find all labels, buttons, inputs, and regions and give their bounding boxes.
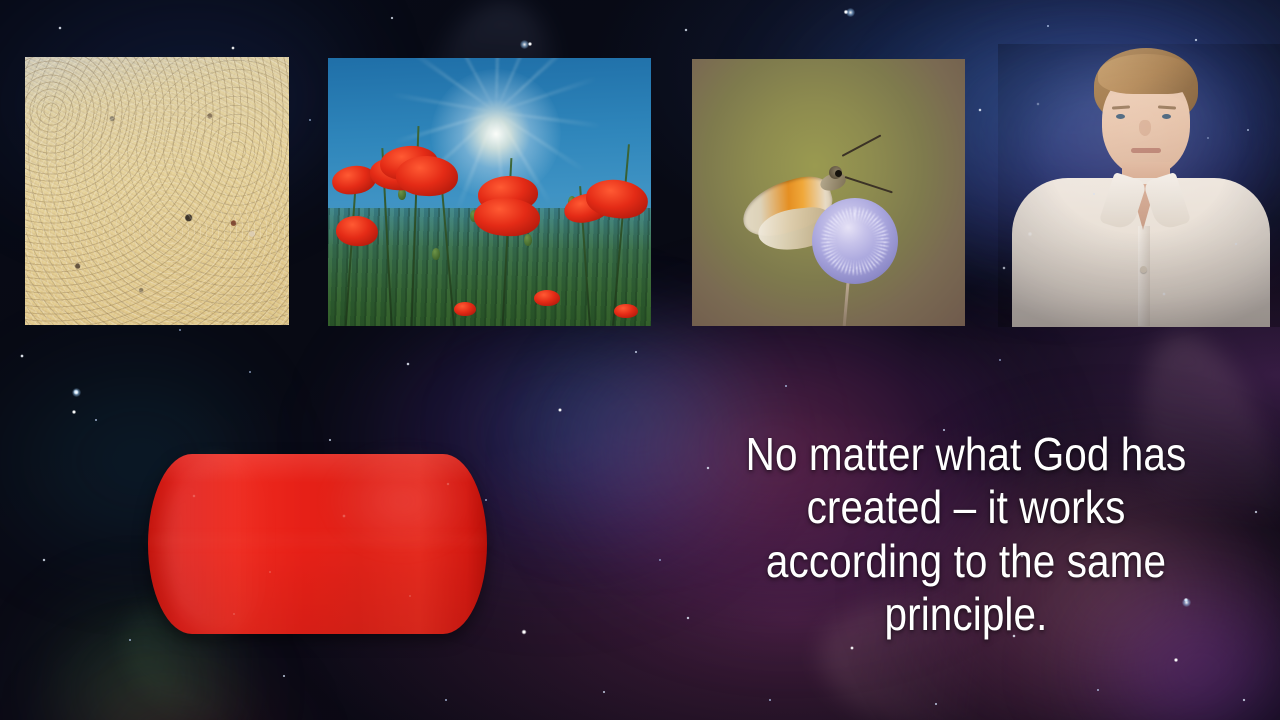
presenter-eye: [1162, 114, 1171, 119]
poppy-flower: [454, 302, 476, 316]
cylinder-light-band: [148, 537, 487, 547]
red-cylinder-shape[interactable]: [148, 454, 487, 634]
sand-grain-texture: [25, 57, 289, 325]
presenter-shirt-placket: [1138, 226, 1150, 326]
sand-macro-photo: [25, 57, 289, 325]
bright-star: [72, 388, 81, 397]
butterfly-antenna: [845, 177, 893, 194]
butterfly-photo: [692, 59, 965, 326]
poppy-bud: [432, 248, 440, 260]
presenter-photo: [998, 44, 1280, 327]
poppy-flower: [614, 304, 638, 318]
presentation-slide: No matter what God has created – it work…: [0, 0, 1280, 720]
quote-text: No matter what God has created – it work…: [721, 428, 1210, 641]
bright-star: [846, 8, 855, 17]
bright-star: [520, 40, 529, 49]
presenter-eye: [1116, 114, 1125, 119]
poppy-bud: [524, 234, 532, 246]
poppy-field-photo: [328, 58, 651, 326]
presenter-shirt-button: [1140, 266, 1147, 273]
butterfly-antenna: [842, 135, 882, 157]
presenter-mouth: [1131, 148, 1161, 153]
flower-petal-spikes: [812, 198, 898, 284]
poppy-flower: [534, 290, 560, 306]
presenter-hair-fringe: [1098, 54, 1194, 94]
presenter-nose: [1139, 120, 1151, 136]
